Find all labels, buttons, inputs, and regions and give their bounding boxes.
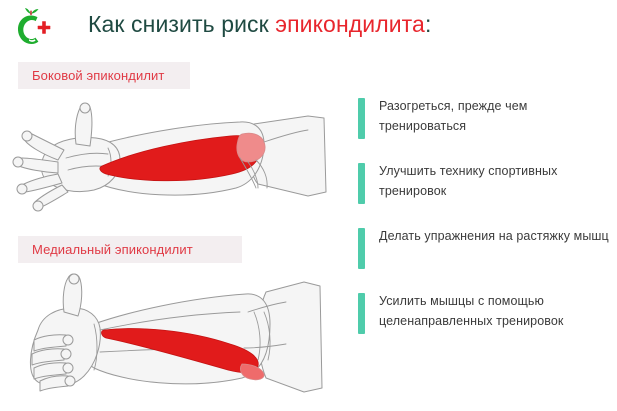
green-apple-red-cross-logo-icon — [10, 6, 54, 48]
list-item: Разогреться, прежде чем тренироваться — [358, 96, 610, 139]
tip-accent-bar — [358, 163, 365, 204]
infographic-page: Как снизить риск эпикондилита: Боковой э… — [0, 0, 617, 411]
tip-text: Улучшить технику спортивных тренировок — [379, 161, 610, 201]
list-item: Усилить мышцы с помощью целенаправленных… — [358, 291, 610, 334]
page-title: Как снизить риск эпикондилита: — [88, 11, 431, 38]
list-item: Улучшить технику спортивных тренировок — [358, 161, 610, 204]
condition-label-medial: Медиальный эпикондилит — [32, 242, 193, 257]
tip-accent-bar — [358, 293, 365, 334]
tip-accent-bar — [358, 228, 365, 269]
condition-label-lateral: Боковой эпикондилит — [32, 68, 164, 83]
forearm-lateral-epicondylitis-illustration — [8, 96, 338, 221]
prevention-tips-list: Разогреться, прежде чем тренироваться Ул… — [358, 96, 610, 356]
condition-chip-medial: Медиальный эпикондилит — [18, 236, 242, 263]
page-title-colon: : — [425, 11, 432, 37]
tip-accent-bar — [358, 98, 365, 139]
tip-text: Делать упражнения на растяжку мышц — [379, 226, 609, 246]
list-item: Делать упражнения на растяжку мышц — [358, 226, 610, 269]
tip-text: Усилить мышцы с помощью целенаправленных… — [379, 291, 610, 331]
page-title-accent: эпикондилита — [275, 11, 425, 37]
forearm-medial-epicondylitis-illustration — [8, 268, 338, 408]
page-title-prefix: Как снизить риск — [88, 11, 275, 37]
tip-text: Разогреться, прежде чем тренироваться — [379, 96, 610, 136]
header: Как снизить риск эпикондилита: — [0, 0, 617, 52]
condition-chip-lateral: Боковой эпикондилит — [18, 62, 190, 89]
